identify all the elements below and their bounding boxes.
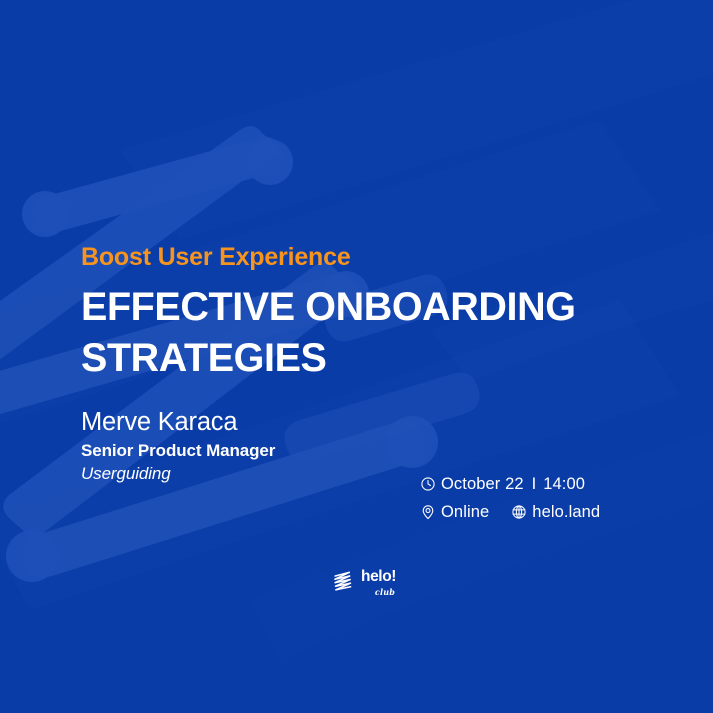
event-location-row: Online helo.land — [420, 500, 600, 524]
event-date: October 22 — [441, 476, 524, 493]
brand-logo[interactable]: helo! club — [330, 569, 396, 596]
poster-content: Boost User Experience EFFECTIVE ONBOARDI… — [81, 243, 681, 486]
clock-icon — [420, 476, 436, 492]
zigzag-scribble-icon — [330, 569, 356, 595]
headline-line-1: EFFECTIVE ONBOARDING — [81, 285, 576, 329]
logo-subtext: club — [375, 588, 395, 596]
event-website-item[interactable]: helo.land — [511, 504, 600, 521]
event-website: helo.land — [532, 504, 600, 521]
logo-wordmark: helo! club — [361, 569, 396, 596]
globe-icon — [511, 504, 527, 520]
event-time: 14:00 — [543, 476, 585, 493]
event-details: October 22 I 14:00 Online — [420, 472, 600, 524]
page-title: EFFECTIVE ONBOARDING STRATEGIES — [81, 282, 681, 383]
logo-word: helo! — [361, 569, 396, 585]
event-location: Online — [441, 504, 489, 521]
speaker-name: Merve Karaca — [81, 407, 681, 438]
event-poster: Boost User Experience EFFECTIVE ONBOARDI… — [0, 0, 713, 713]
event-location-item: Online — [420, 504, 489, 521]
speaker-role: Senior Product Manager — [81, 440, 681, 463]
headline-line-2: STRATEGIES — [81, 333, 681, 384]
event-datetime-row: October 22 I 14:00 — [420, 472, 600, 496]
map-pin-icon — [420, 504, 436, 520]
eyebrow-text: Boost User Experience — [81, 243, 681, 271]
datetime-separator: I — [532, 476, 537, 493]
